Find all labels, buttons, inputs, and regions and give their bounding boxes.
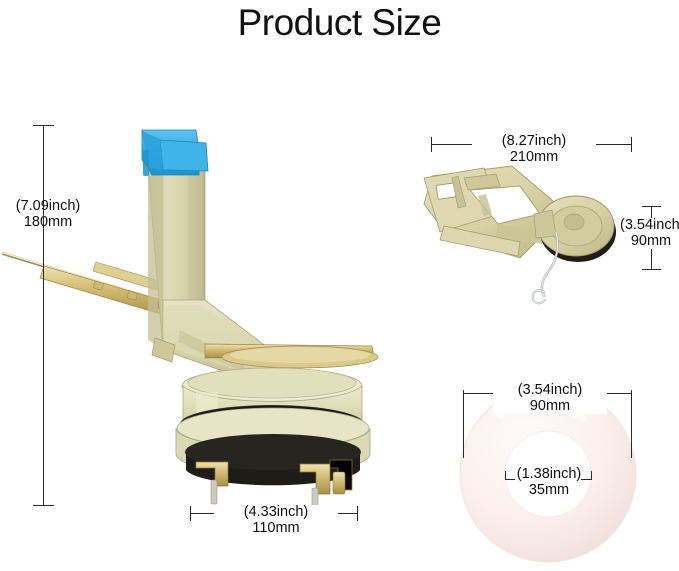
valve-width-tick-left bbox=[190, 506, 191, 521]
valve-height-label: (7.09inch) 180mm bbox=[0, 199, 96, 230]
flapper-height-tick-top bbox=[642, 206, 661, 207]
flush-valve-illustration bbox=[424, 166, 616, 303]
washer-od-label: (3.54inch) 90mm bbox=[493, 383, 607, 414]
flapper-length-label: (8.27inch) 210mm bbox=[472, 134, 596, 165]
valve-width-tick-right bbox=[357, 506, 358, 521]
valve-height-mm: 180mm bbox=[0, 215, 96, 231]
fill-valve-illustration bbox=[2, 130, 378, 506]
flapper-height-tick-bottom bbox=[642, 269, 661, 270]
washer-id-label: (1.38inch) 35mm bbox=[503, 467, 595, 498]
flapper-height-mm: 90mm bbox=[620, 234, 679, 250]
valve-height-dimension-line bbox=[43, 125, 44, 505]
valve-height-inch: (7.09inch) bbox=[16, 198, 80, 214]
flapper-length-tick-left bbox=[431, 137, 432, 152]
washer-od-tick-left bbox=[463, 390, 464, 458]
valve-width-mm: 110mm bbox=[216, 521, 336, 537]
valve-width-label: (4.33inch) 110mm bbox=[214, 505, 338, 536]
valve-width-inch: (4.33inch) bbox=[244, 504, 308, 520]
valve-height-tick-bottom bbox=[33, 505, 54, 506]
flapper-length-tick-right bbox=[631, 137, 632, 152]
washer-od-tick-right bbox=[631, 390, 632, 458]
washer-id-inch: (1.38inch) bbox=[517, 466, 581, 482]
washer-od-mm: 90mm bbox=[495, 399, 605, 415]
valve-height-tick-top bbox=[33, 125, 54, 126]
flapper-length-mm: 210mm bbox=[474, 150, 594, 166]
washer-od-inch: (3.54inch) bbox=[518, 382, 582, 398]
flapper-length-inch: (8.27inch) bbox=[502, 133, 566, 149]
washer-id-mm: 35mm bbox=[503, 483, 595, 499]
flapper-height-inch: (3.54inch) bbox=[620, 217, 679, 233]
flapper-height-label: (3.54inch) 90mm bbox=[620, 218, 679, 249]
product-size-diagram: Product Size bbox=[0, 0, 679, 571]
